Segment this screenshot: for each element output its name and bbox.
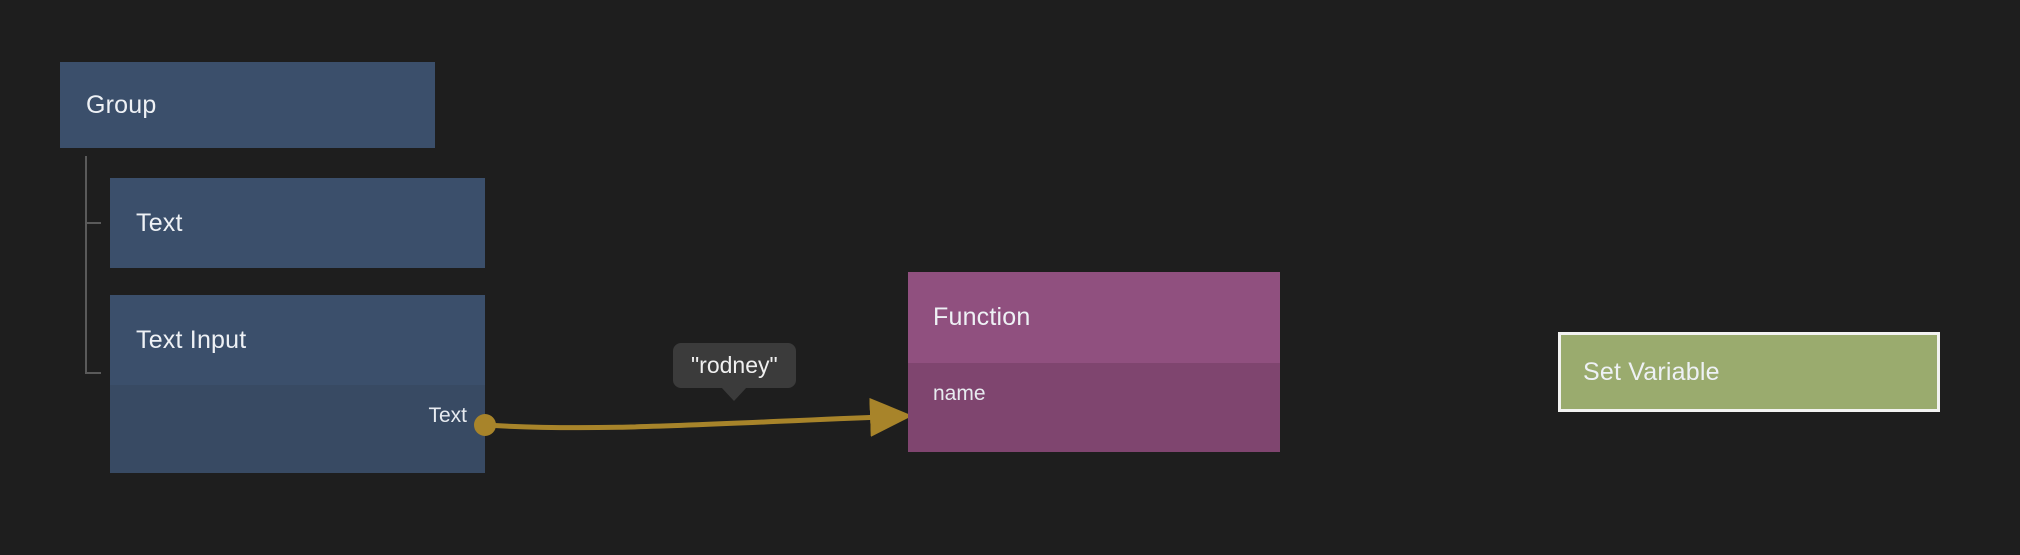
node-text[interactable]: Text [110,178,485,268]
output-port-text-label: Text [428,404,467,428]
node-function[interactable]: Function name [908,272,1280,452]
input-port-name-label: name [933,382,986,406]
node-group-title: Group [86,91,156,120]
node-text-title: Text [136,209,183,238]
input-port-name[interactable]: name [933,382,986,406]
tree-connector-vertical [85,156,87,374]
node-text-header: Text [110,178,485,268]
node-group[interactable]: Group [60,62,435,148]
tooltip-pointer-icon [721,387,747,401]
connection-value-tooltip: "rodney" [673,343,796,388]
node-text-input[interactable]: Text Input Text [110,295,485,473]
node-set-variable[interactable]: Set Variable [1558,332,1940,412]
output-port-text-dot[interactable] [474,414,496,436]
tree-connector-branch-text [85,222,101,224]
tree-connector-branch-text-input [85,372,101,374]
node-group-header: Group [60,62,435,148]
output-port-text[interactable]: Text [428,404,467,428]
connection-edge-text-to-name[interactable] [485,416,905,428]
node-text-input-body: Text [110,385,485,473]
node-function-title: Function [933,303,1031,332]
node-text-input-title: Text Input [136,326,246,355]
node-set-variable-title: Set Variable [1583,358,1720,387]
connection-value-text: "rodney" [691,352,778,378]
node-function-header: Function [908,272,1280,363]
node-set-variable-header: Set Variable [1561,335,1937,409]
node-graph-canvas[interactable]: Group Text Text Input Text "rodney" [0,0,2020,555]
node-text-input-header: Text Input [110,295,485,385]
node-function-body: name [908,363,1280,452]
